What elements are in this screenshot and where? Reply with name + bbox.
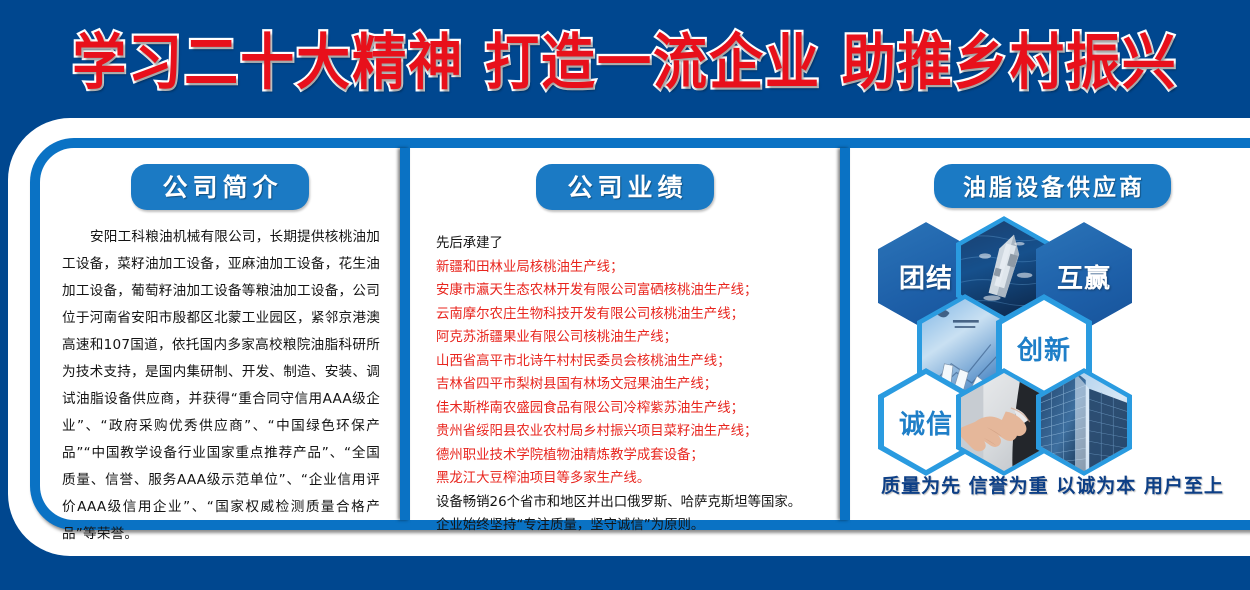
business-project-line: 安康市瀛天生态农林开发有限公司富硒核桃油生产线； [436, 279, 824, 303]
business-intro-line: 先后承建了 [436, 232, 824, 256]
business-footer-line: 企业始终坚持“专注质量，坚守诚信”为原则。 [436, 514, 824, 538]
hexagon-cluster: 团结 [850, 216, 1250, 466]
supplier-header-pill: 油脂设备供应商 [934, 164, 1171, 208]
business-project-line: 阿克苏浙疆果业有限公司核桃油生产线； [436, 326, 824, 350]
hex-winwin-label: 互赢 [1057, 258, 1111, 295]
company-header-wrap: 公司简介 [40, 164, 400, 210]
business-project-line: 贵州省绥阳县农业农村局乡村振兴项目菜籽油生产线； [436, 420, 824, 444]
business-project-line: 新疆和田林业局核桃油生产线； [436, 256, 824, 280]
poster-root: 学习二十大精神 打造一流企业 助推乡村振兴 公司简介 安阳工科粮油机械有限公司，… [0, 0, 1250, 590]
hex-innovate-label: 创新 [1017, 330, 1071, 367]
business-project-line: 佳木斯桦南农盛园食品有限公司冷榨紫苏油生产线； [436, 397, 824, 421]
business-project-line: 山西省高平市北诗午村村民委员会核桃油生产线； [436, 350, 824, 374]
business-project-line: 云南摩尔农庄生物科技开发有限公司核桃油生产线； [436, 303, 824, 327]
business-header-wrap: 公司业绩 [410, 164, 840, 210]
business-project-line: 德州职业技术学院植物油精炼教学成套设备； [436, 444, 824, 468]
company-header-pill: 公司简介 [131, 164, 308, 210]
company-intro-text: 安阳工科粮油机械有限公司，长期提供核桃油加工设备，菜籽油加工设备，亚麻油加工设备… [62, 224, 380, 548]
business-project-lines: 新疆和田林业局核桃油生产线；安康市瀛天生态农林开发有限公司富硒核桃油生产线；云南… [436, 256, 824, 491]
business-list: 先后承建了 新疆和田林业局核桃油生产线；安康市瀛天生态农林开发有限公司富硒核桃油… [436, 232, 824, 538]
business-project-line: 黑龙江大豆榨油项目等多家生产线。 [436, 467, 824, 491]
business-project-line: 吉林省四平市梨树县国有林场文冠果油生产线； [436, 373, 824, 397]
column-divider-left [400, 148, 410, 520]
title-banner: 学习二十大精神 打造一流企业 助推乡村振兴 [0, 0, 1250, 112]
panel-business-record: 公司业绩 先后承建了 新疆和田林业局核桃油生产线；安康市瀛天生态农林开发有限公司… [410, 148, 840, 520]
supplier-header-wrap: 油脂设备供应商 [850, 164, 1250, 208]
banner-title: 学习二十大精神 打造一流企业 助推乡村振兴 [72, 12, 1178, 100]
business-footer-lines: 设备畅销26个省市和地区并出口俄罗斯、哈萨克斯坦等国家。企业始终坚持“专注质量，… [436, 491, 824, 538]
hex-unity-label: 团结 [899, 258, 953, 295]
panel-company-intro: 公司简介 安阳工科粮油机械有限公司，长期提供核桃油加工设备，菜籽油加工设备，亚麻… [40, 148, 400, 520]
content-area: 公司简介 安阳工科粮油机械有限公司，长期提供核桃油加工设备，菜籽油加工设备，亚麻… [40, 148, 1250, 520]
business-footer-line: 设备畅销26个省市和地区并出口俄罗斯、哈萨克斯坦等国家。 [436, 491, 824, 515]
supplier-slogan: 质量为先 信誉为重 以诚为本 用户至上 [850, 471, 1250, 498]
business-header-pill: 公司业绩 [536, 164, 713, 210]
column-divider-right [840, 148, 850, 520]
hex-integrity-label: 诚信 [899, 404, 953, 441]
panel-supplier-values: 油脂设备供应商 团结 [850, 148, 1250, 520]
